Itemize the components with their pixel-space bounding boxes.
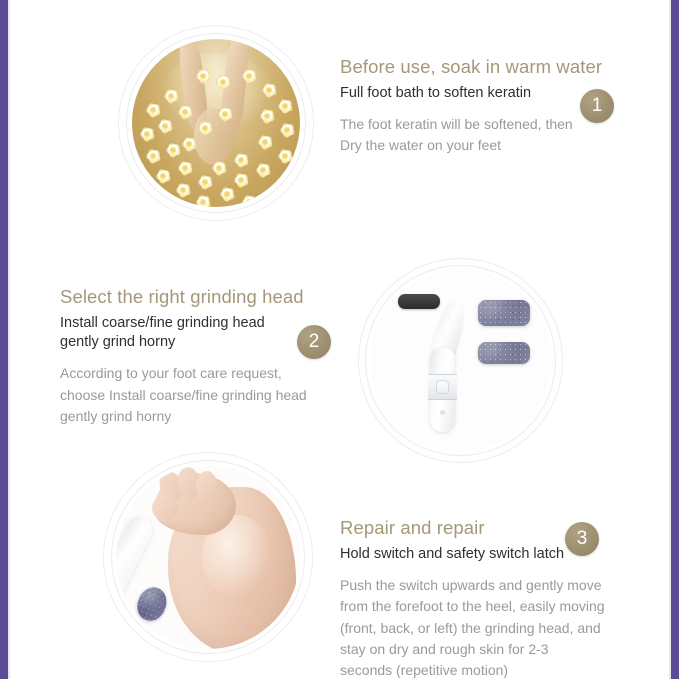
device-indicator-led	[440, 410, 445, 415]
step-2-text-block: Select the right grinding head Install c…	[60, 286, 310, 427]
step-1-subtitle: Full foot bath to soften keratin	[340, 84, 580, 103]
step-2-number-badge: 2	[297, 325, 331, 359]
device-cap	[398, 294, 440, 309]
coarse-grinding-head	[478, 300, 530, 326]
plumeria-flower	[176, 131, 202, 157]
grinding-head-on-skin	[133, 583, 172, 625]
plumeria-flower	[206, 155, 232, 181]
heel-image-content	[116, 465, 300, 649]
step-2-heading: Select the right grinding head	[60, 286, 310, 308]
left-accent-bar-edge	[8, 0, 10, 679]
device-in-use-on-heel-photo	[103, 452, 313, 662]
instruction-infographic-page: Before use, soak in warm water Full foot…	[0, 0, 679, 679]
thumb	[152, 495, 178, 521]
foot-bath-image-content	[132, 39, 300, 207]
device-image-content	[370, 270, 551, 451]
step-2-body: According to your foot care request, cho…	[60, 363, 310, 427]
step-2-subtitle: Install coarse/fine grinding head gently…	[60, 314, 310, 352]
step-1-heading: Before use, soak in warm water	[340, 56, 580, 78]
step-3-number-badge: 3	[565, 522, 599, 556]
step-3-body: Push the switch upwards and gently move …	[340, 575, 610, 679]
step-1-number-badge: 1	[580, 89, 614, 123]
step-1-body: The foot keratin will be softened, then …	[340, 114, 580, 157]
plumeria-flower	[212, 101, 238, 127]
step-1-text-block: Before use, soak in warm water Full foot…	[340, 56, 580, 157]
plumeria-flower	[210, 69, 236, 95]
left-accent-bar	[0, 0, 8, 679]
right-accent-bar	[671, 0, 679, 679]
fine-grinding-head	[478, 342, 530, 364]
plumeria-flower	[190, 189, 216, 207]
plumeria-flower	[172, 99, 198, 125]
right-accent-bar-edge	[669, 0, 671, 679]
device-power-switch	[428, 374, 457, 400]
device-and-grinding-heads-photo	[358, 258, 563, 463]
foot-bath-with-flowers-photo	[118, 25, 314, 221]
